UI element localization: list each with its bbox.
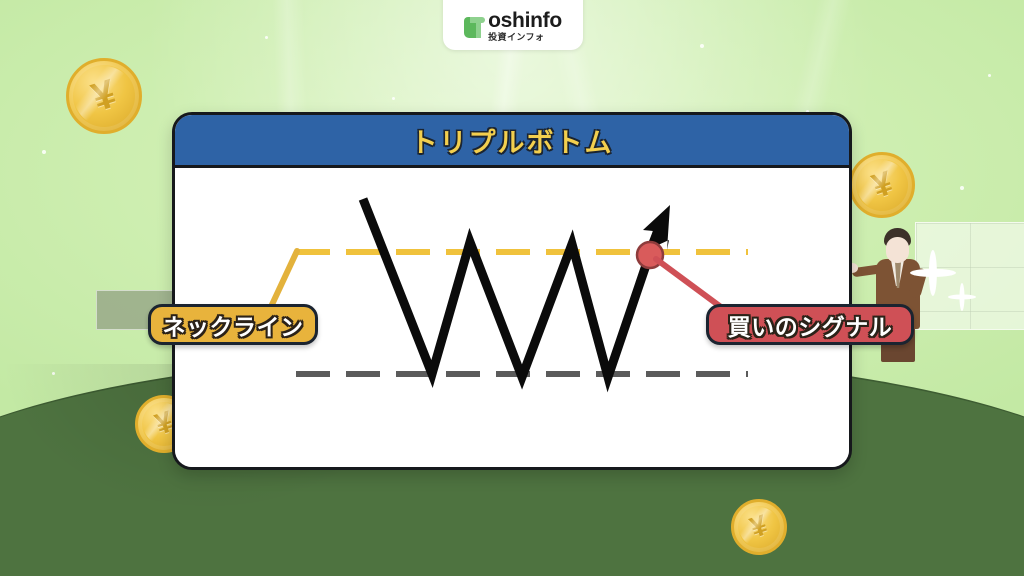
pattern-card: トリプルボトム	[172, 112, 852, 470]
sparkle-small	[948, 283, 976, 311]
coin-right-upper: ¥	[849, 152, 915, 218]
brand-subtitle: 投資インフォ	[488, 33, 562, 42]
brand-logo: oshinfo 投資インフォ	[443, 0, 583, 50]
yen-symbol: ¥	[747, 511, 771, 544]
neckline-label-badge[interactable]: ネックライン	[148, 304, 318, 345]
toshinfo-flag-icon	[464, 15, 485, 38]
yen-symbol: ¥	[87, 74, 121, 119]
yen-symbol: ¥	[868, 166, 897, 204]
card-title-bar: トリプルボトム	[175, 115, 849, 168]
neckline-label-text: ネックライン	[163, 308, 304, 342]
slide-canvas: oshinfo 投資インフォ ¥ ¥ ¥ ¥ トリプルボトム	[0, 0, 1024, 576]
coin-bottom-right: ¥	[731, 499, 787, 555]
buy-signal-label-text: 買いのシグナル	[728, 308, 893, 342]
coin-top-left: ¥	[66, 58, 142, 134]
buy-signal-label-badge[interactable]: 買いのシグナル	[706, 304, 914, 345]
price-line	[363, 199, 661, 377]
breakout-point-marker	[637, 242, 663, 268]
page-title: トリプルボトム	[411, 121, 614, 160]
brand-wordmark: oshinfo	[488, 10, 562, 31]
